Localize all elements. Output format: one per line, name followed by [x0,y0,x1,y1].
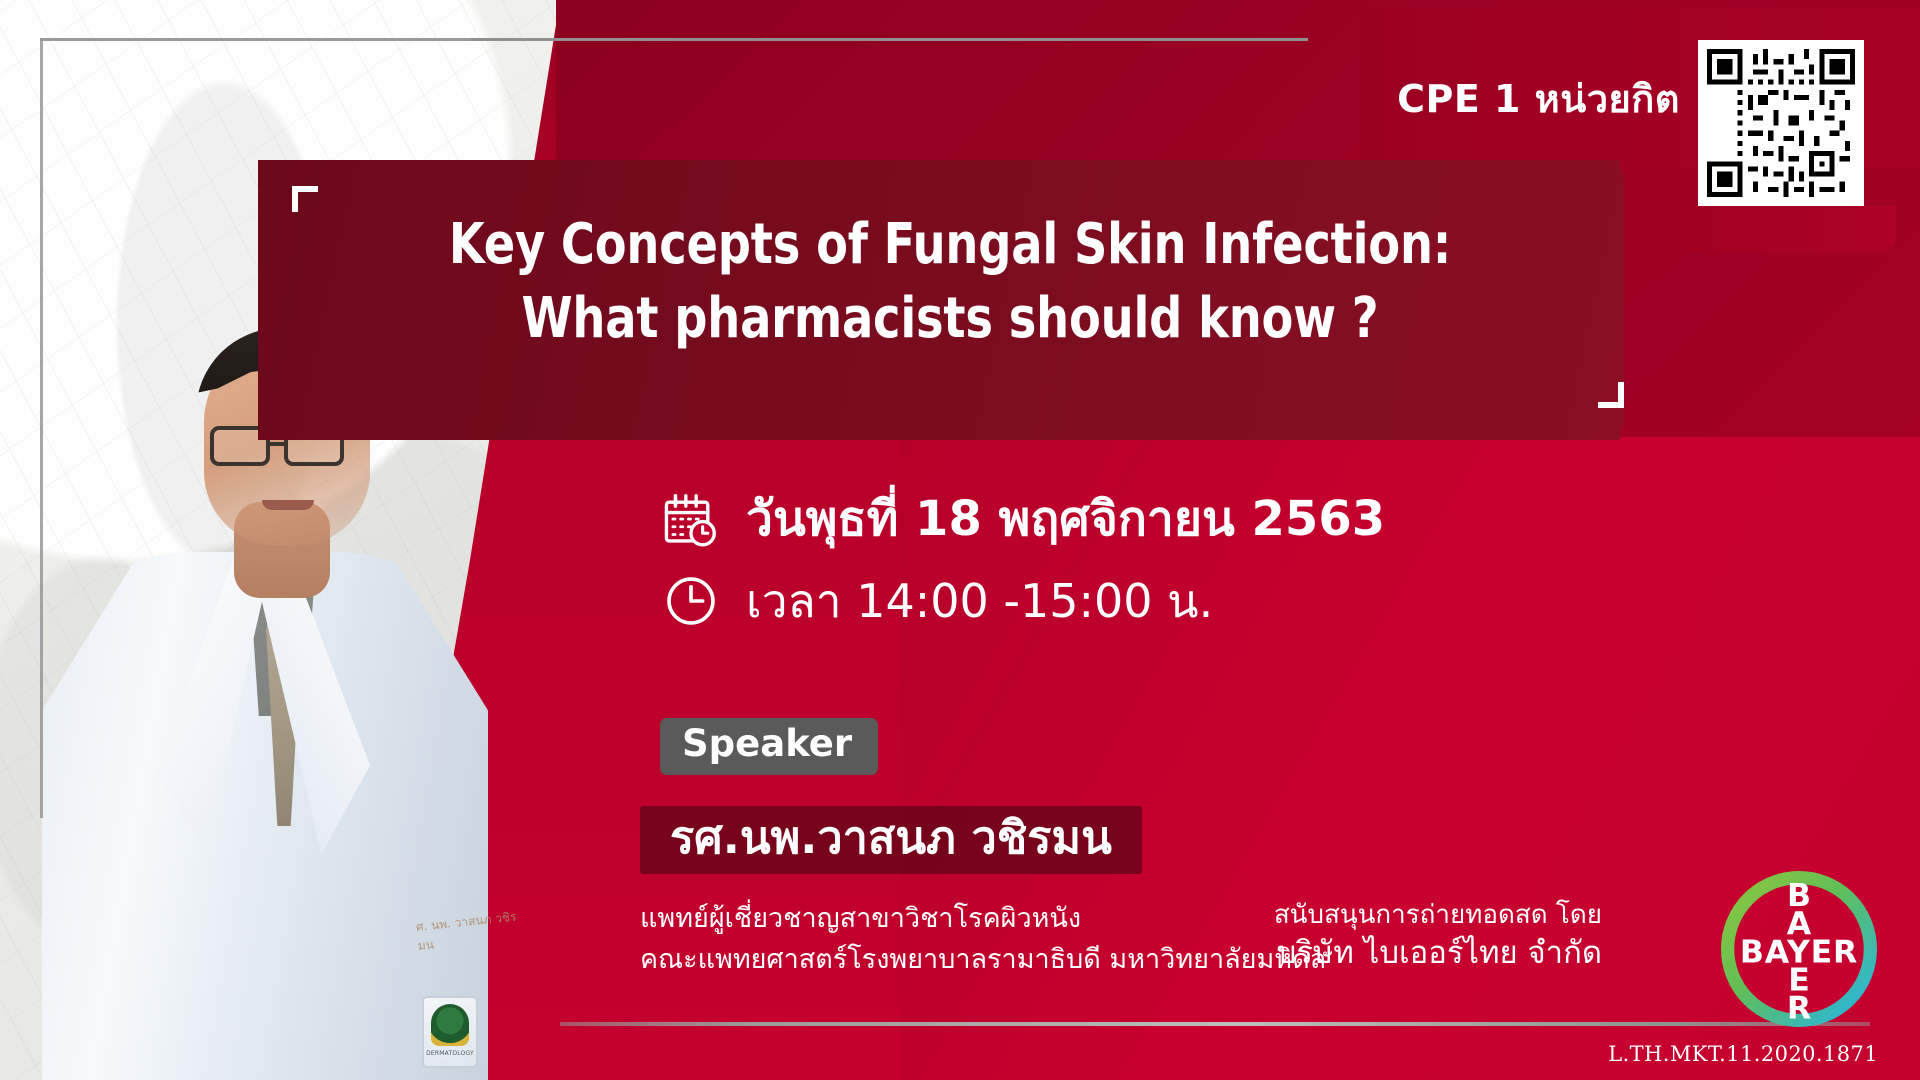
speaker-name-container: รศ.นพ.วาสนภ วชิรมน [640,806,1142,874]
coat-badge-label: DERMATOLOGY [424,1050,476,1057]
qr-code-icon[interactable] [1698,40,1864,206]
calendar-clock-icon [660,488,722,550]
event-date-row: วันพุธที่ 18 พฤศจิกายน 2563 [660,488,1385,550]
sponsor-block: สนับสนุนการถ่ายทอดสด โดย บริษัท ไบเออร์ไ… [1274,898,1602,975]
event-time-row: เวลา 14:00 -15:00 น. [660,570,1385,632]
bayer-cross-logo: B A E R BAYER [1716,866,1882,1032]
svg-text:R: R [1787,991,1811,1027]
cpe-credit-label: CPE 1 หน่วยกิต [1397,68,1680,129]
qr-backdrop-shape [1656,206,1896,252]
university-emblem-icon [431,1004,469,1046]
speaker-affiliation-line-1: แพทย์ผู้เชี่ยวชาญสาขาวิชาโรคผิวหนัง [640,898,1326,939]
title-line-2: What pharmacists should know ? [352,282,1548,356]
decorative-frame-top-rule [40,38,1308,41]
sponsor-line-2: บริษัท ไบเออร์ไทย จำกัด [1274,933,1602,975]
regulatory-code: L.TH.MKT.11.2020.1871 [1608,1042,1878,1066]
clock-icon [660,570,722,632]
speaker-badge: Speaker [660,718,878,775]
speaker-affiliation: แพทย์ผู้เชี่ยวชาญสาขาวิชาโรคผิวหนัง คณะแ… [640,898,1326,980]
speaker-affiliation-line-2: คณะแพทยศาสตร์โรงพยาบาลรามาธิบดี มหาวิทยา… [640,939,1326,980]
event-poster: ศ. นพ. วาสนภ วชิรมน DERMATOLOGY CPE 1 หน… [0,0,1920,1080]
svg-text:BAYER: BAYER [1740,934,1858,970]
corner-bracket-bottom-right-icon [1598,382,1624,408]
decorative-frame-bottom-rule [560,1022,1870,1026]
speaker-name: รศ.นพ.วาสนภ วชิรมน [670,812,1112,864]
event-date-text: วันพุธที่ 18 พฤศจิกายน 2563 [746,493,1385,546]
sponsor-line-1: สนับสนุนการถ่ายทอดสด โดย [1274,898,1602,933]
page-title: Key Concepts of Fungal Skin Infection: W… [300,208,1600,357]
event-time-text: เวลา 14:00 -15:00 น. [746,576,1213,627]
event-info-block: วันพุธที่ 18 พฤศจิกายน 2563 เวลา 14:00 -… [660,488,1385,652]
title-line-1: Key Concepts of Fungal Skin Infection: [352,208,1548,282]
